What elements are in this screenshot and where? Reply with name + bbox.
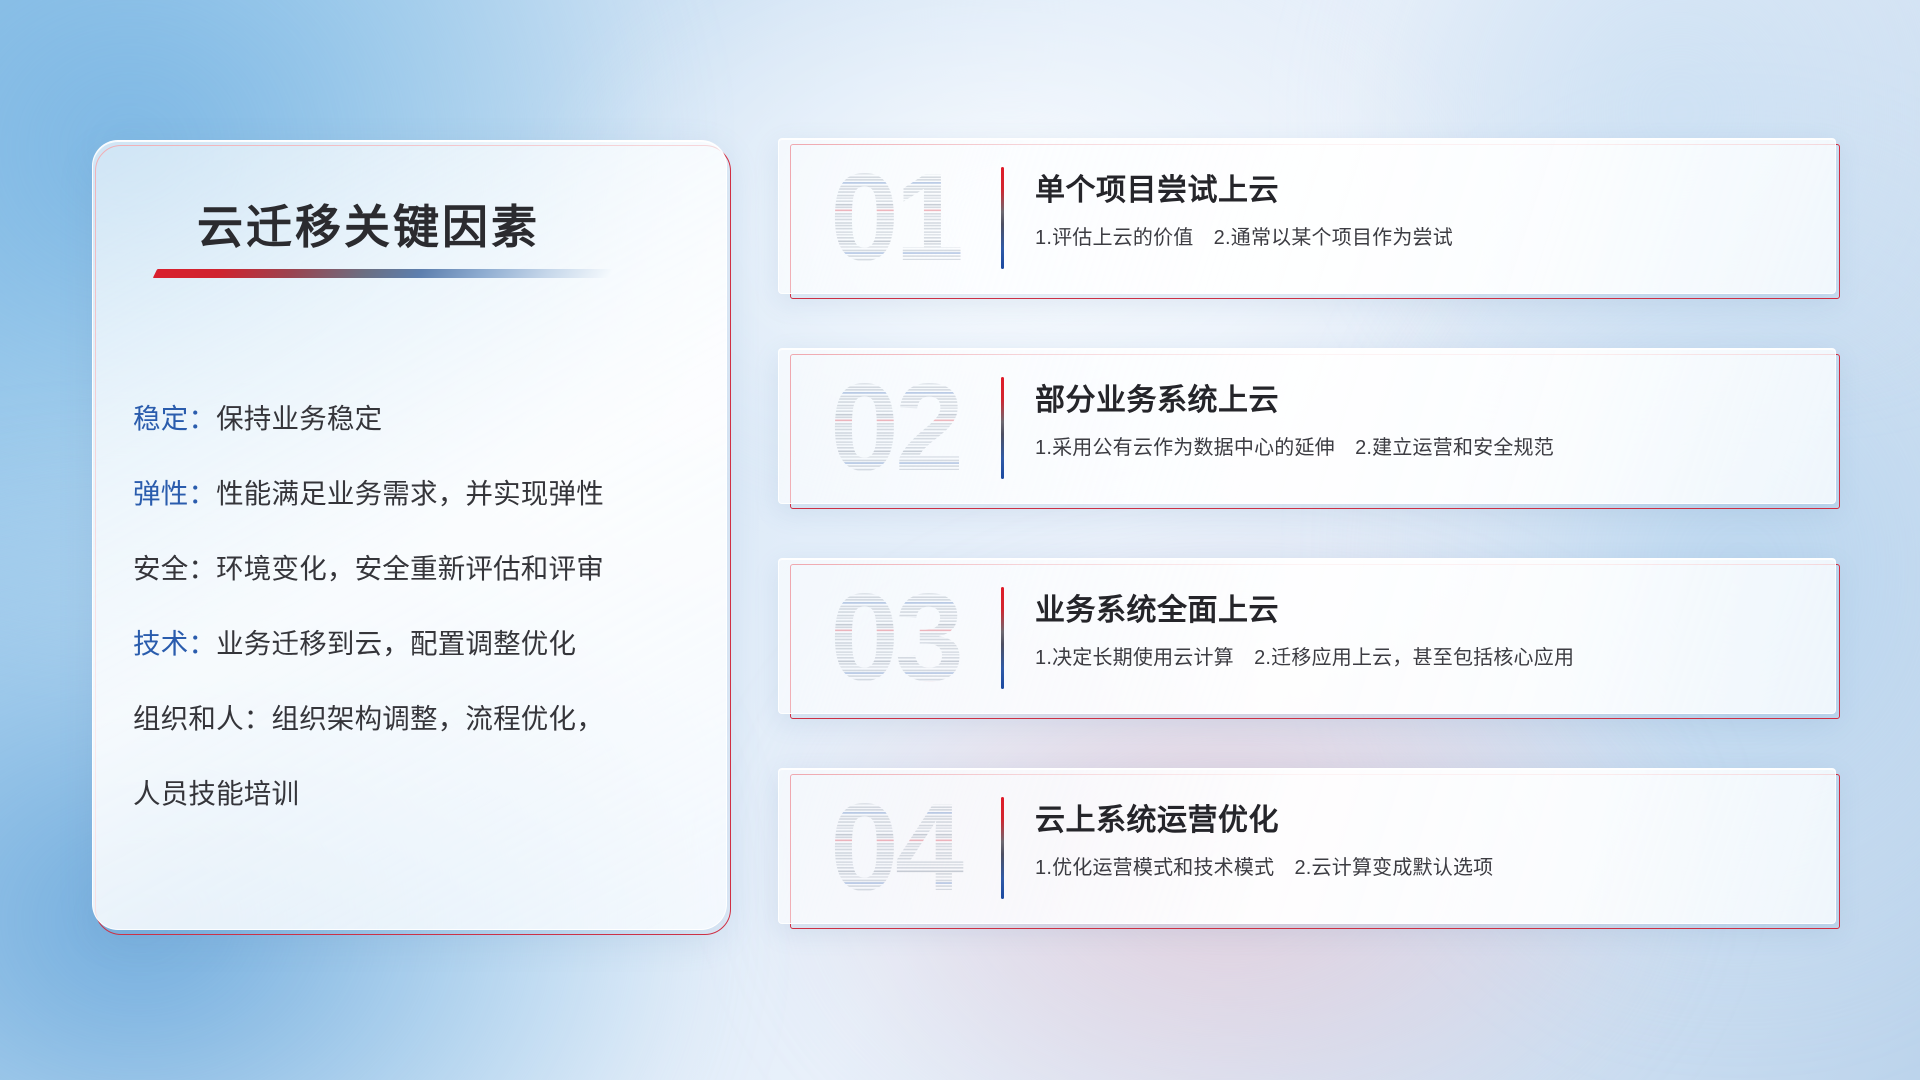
card-description: 1.优化运营模式和技术模式 2.云计算变成默认选项 <box>1035 851 1493 880</box>
key-factor-item: 稳定：保持业务稳定 <box>133 381 700 456</box>
card-surface: 04云上系统运营优化1.优化运营模式和技术模式 2.云计算变成默认选项 <box>778 768 1836 924</box>
migration-stage-card[interactable]: 03业务系统全面上云1.决定长期使用云计算 2.迁移应用上云，甚至包括核心应用 <box>778 558 1836 714</box>
key-factor-label: 稳定： <box>133 403 216 434</box>
key-factor-text: 环境变化，安全重新评估和评审 <box>216 553 604 584</box>
key-factor-text: 保持业务稳定 <box>216 403 382 434</box>
key-factor-text: 组织架构调整，流程优化， <box>272 703 604 734</box>
page-title: 云迁移关键因素 <box>197 191 540 257</box>
card-surface: 01单个项目尝试上云1.评估上云的价值 2.通常以某个项目作为尝试 <box>778 138 1836 294</box>
card-description: 1.决定长期使用云计算 2.迁移应用上云，甚至包括核心应用 <box>1035 641 1574 670</box>
card-divider-gradient <box>1001 587 1004 689</box>
card-step-number-watermark: 01 <box>815 145 975 289</box>
card-step-number-watermark: 03 <box>815 565 975 709</box>
panel-surface: 云迁移关键因素 稳定：保持业务稳定弹性：性能满足业务需求，并实现弹性安全：环境变… <box>92 140 727 930</box>
card-step-number-watermark: 04 <box>815 775 975 919</box>
key-factor-text: 业务迁移到云，配置调整优化 <box>216 628 576 659</box>
card-title: 云上系统运营优化 <box>1035 795 1279 839</box>
key-factor-text: 性能满足业务需求，并实现弹性 <box>216 478 604 509</box>
key-factor-label: 弹性： <box>133 478 216 509</box>
key-factor-label: 技术： <box>133 628 216 659</box>
key-factor-text: 人员技能培训 <box>133 778 299 809</box>
key-factor-item: 安全：环境变化，安全重新评估和评审 <box>133 531 700 606</box>
key-factor-item: 弹性：性能满足业务需求，并实现弹性 <box>133 456 700 531</box>
card-description: 1.采用公有云作为数据中心的延伸 2.建立运营和安全规范 <box>1035 431 1554 460</box>
card-divider-gradient <box>1001 377 1004 479</box>
key-factor-label: 安全： <box>133 553 216 584</box>
migration-stage-card[interactable]: 04云上系统运营优化1.优化运营模式和技术模式 2.云计算变成默认选项 <box>778 768 1836 924</box>
card-title: 单个项目尝试上云 <box>1035 165 1279 209</box>
card-divider-gradient <box>1001 167 1004 269</box>
migration-stage-card[interactable]: 01单个项目尝试上云1.评估上云的价值 2.通常以某个项目作为尝试 <box>778 138 1836 294</box>
key-factors-list: 稳定：保持业务稳定弹性：性能满足业务需求，并实现弹性安全：环境变化，安全重新评估… <box>133 381 700 831</box>
key-factor-item: 组织和人：组织架构调整，流程优化， <box>133 681 700 756</box>
key-factor-item: 技术：业务迁移到云，配置调整优化 <box>133 606 700 681</box>
card-divider-gradient <box>1001 797 1004 899</box>
card-surface: 02部分业务系统上云1.采用公有云作为数据中心的延伸 2.建立运营和安全规范 <box>778 348 1836 504</box>
card-step-number-watermark: 02 <box>815 355 975 499</box>
key-factor-item: 人员技能培训 <box>133 756 700 831</box>
card-title: 部分业务系统上云 <box>1035 375 1279 419</box>
title-underline-gradient <box>153 269 613 278</box>
card-description: 1.评估上云的价值 2.通常以某个项目作为尝试 <box>1035 221 1453 250</box>
card-title: 业务系统全面上云 <box>1035 585 1279 629</box>
key-factors-panel: 云迁移关键因素 稳定：保持业务稳定弹性：性能满足业务需求，并实现弹性安全：环境变… <box>92 140 727 930</box>
migration-stage-card[interactable]: 02部分业务系统上云1.采用公有云作为数据中心的延伸 2.建立运营和安全规范 <box>778 348 1836 504</box>
key-factor-label: 组织和人： <box>133 703 272 734</box>
card-surface: 03业务系统全面上云1.决定长期使用云计算 2.迁移应用上云，甚至包括核心应用 <box>778 558 1836 714</box>
